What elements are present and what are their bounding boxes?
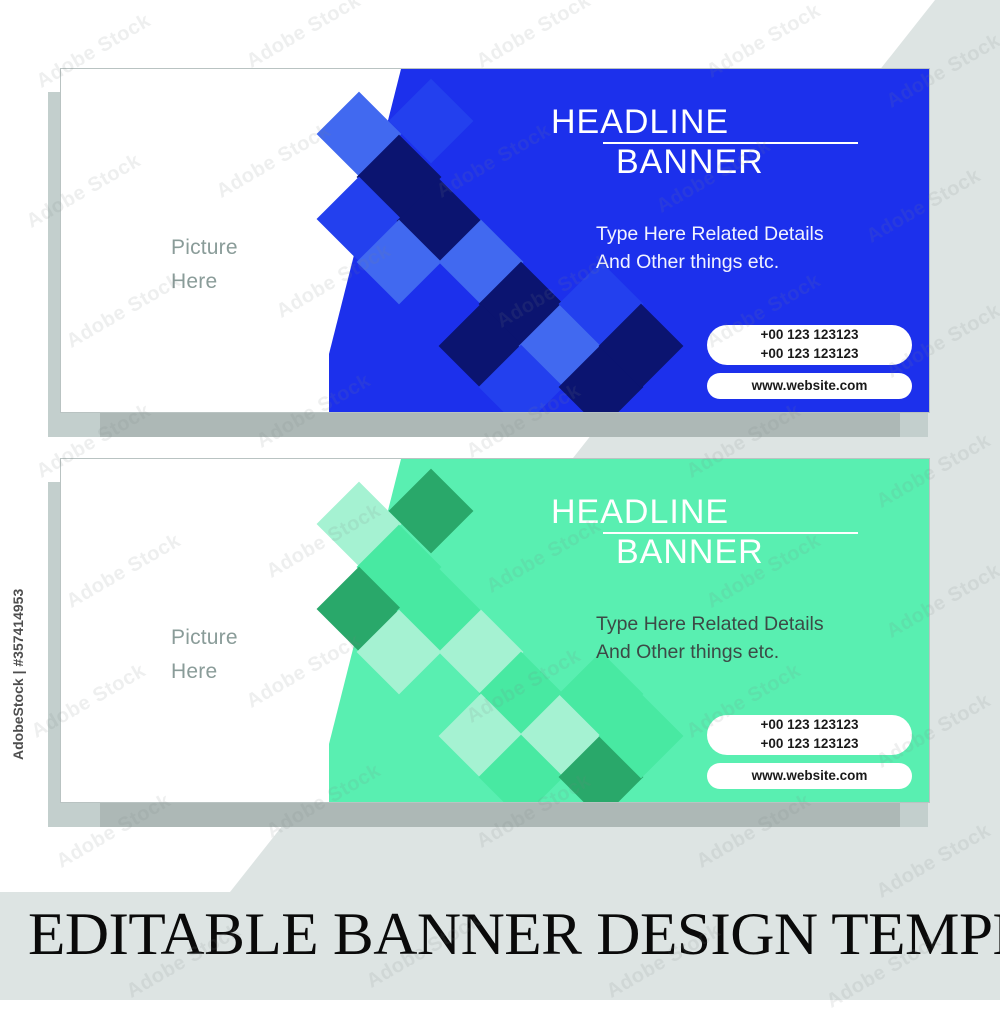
green-banner[interactable]: Picture Here HEADLINE BANNER Type Here R… <box>60 458 930 803</box>
green-phone-line-1: +00 123 123123 <box>761 716 859 735</box>
blue-headline-block: HEADLINE BANNER <box>551 105 881 180</box>
green-details-text: Type Here Related Details And Other thin… <box>596 611 824 666</box>
blue-details-line-2: And Other things etc. <box>596 249 824 277</box>
canvas-stage: Picture Here HEADLINE BANNER Type Here R… <box>0 0 1000 1000</box>
blue-website-pill[interactable]: www.website.com <box>707 373 912 399</box>
blue-picture-line-2: Here <box>171 265 238 299</box>
blue-banner[interactable]: Picture Here HEADLINE BANNER Type Here R… <box>60 68 930 413</box>
green-picture-line-1: Picture <box>171 621 238 655</box>
green-details-line-2: And Other things etc. <box>596 639 824 667</box>
blue-banner-cast-shadow <box>100 413 900 437</box>
green-website-text: www.website.com <box>752 763 868 789</box>
blue-headline-line-1: HEADLINE <box>551 105 881 141</box>
green-picture-line-2: Here <box>171 655 238 689</box>
green-headline-line-1: HEADLINE <box>551 495 881 531</box>
green-phone-line-2: +00 123 123123 <box>761 735 859 754</box>
blue-details-text: Type Here Related Details And Other thin… <box>596 221 824 276</box>
green-banner-cast-shadow <box>100 803 900 827</box>
stock-watermark: Adobe Stock <box>243 0 365 73</box>
stock-id-watermark: AdobeStock | #357414953 <box>10 589 26 760</box>
blue-details-line-1: Type Here Related Details <box>596 221 824 249</box>
green-headline-line-2: BANNER <box>551 535 881 571</box>
green-picture-placeholder[interactable]: Picture Here <box>171 621 238 689</box>
green-website-pill[interactable]: www.website.com <box>707 763 912 789</box>
page-caption: EDITABLE BANNER DESIGN TEMPLATES <box>28 900 1000 969</box>
blue-picture-line-1: Picture <box>171 231 238 265</box>
blue-website-text: www.website.com <box>752 373 868 399</box>
blue-phone-line-2: +00 123 123123 <box>761 345 859 364</box>
green-details-line-1: Type Here Related Details <box>596 611 824 639</box>
blue-phone-pill[interactable]: +00 123 123123 +00 123 123123 <box>707 325 912 365</box>
blue-phone-line-1: +00 123 123123 <box>761 326 859 345</box>
green-headline-block: HEADLINE BANNER <box>551 495 881 570</box>
green-phone-pill[interactable]: +00 123 123123 +00 123 123123 <box>707 715 912 755</box>
stock-watermark: Adobe Stock <box>473 0 595 73</box>
blue-picture-placeholder[interactable]: Picture Here <box>171 231 238 299</box>
blue-headline-line-2: BANNER <box>551 145 881 181</box>
